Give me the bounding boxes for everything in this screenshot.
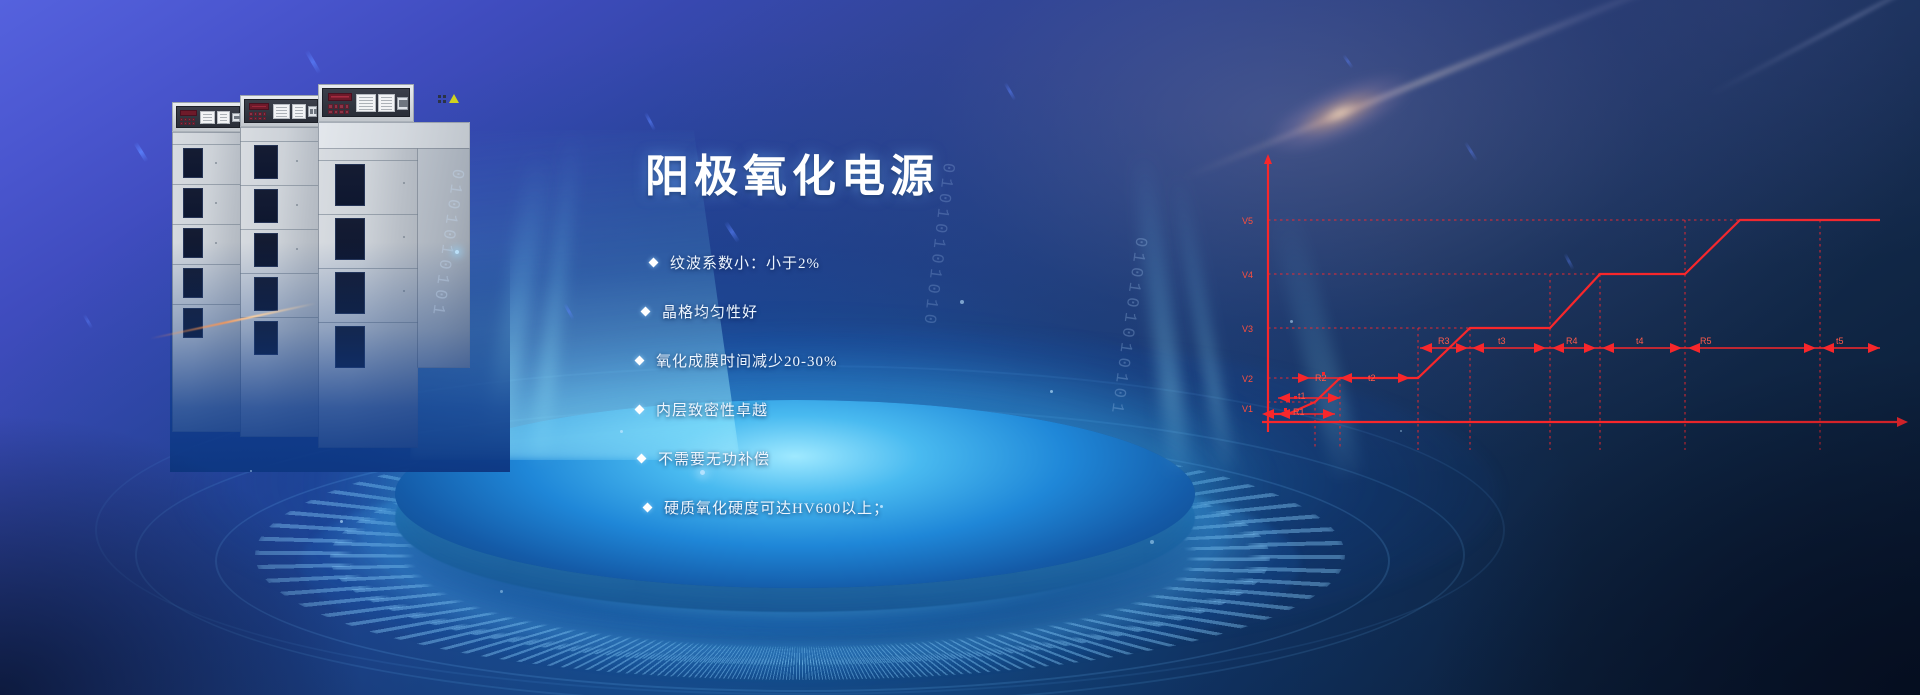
cabinet-left-vent-5 — [183, 308, 203, 338]
chart-tick-v4: V4 — [1242, 270, 1253, 280]
cabinet-left-meter — [232, 113, 240, 122]
warning-label-sticker — [438, 94, 459, 103]
page-title: 阳极氧化电源 — [645, 140, 1185, 204]
cabinet-front-body — [318, 148, 418, 448]
list-item: 晶格均匀性好 — [642, 301, 1185, 322]
list-item: 硬质氧化硬度可达HV600以上； — [644, 497, 1185, 518]
cabinet-front-top-deck — [318, 122, 470, 150]
chart-label-t1: t1 — [1298, 391, 1306, 401]
particle — [620, 430, 623, 433]
list-item-label: 纹波系数小：小于2% — [670, 252, 820, 273]
cabinet-middle-vent-4 — [254, 277, 278, 311]
particle — [1050, 390, 1053, 393]
chart-label-t3: t3 — [1498, 336, 1506, 346]
cabinet-front-keypad[interactable] — [328, 104, 349, 114]
particle — [700, 470, 705, 475]
cabinet-left-vent-4 — [183, 268, 203, 298]
cabinet-front-vent-3 — [335, 272, 365, 314]
anodizing-power-supply-banner: 0101010101 01010101010 010101010101 阳极氧化… — [0, 0, 1920, 695]
diamond-bullet-icon — [649, 258, 659, 268]
particle-streak — [1004, 82, 1017, 101]
cabinet-front-control-panel — [322, 88, 410, 117]
cabinet-middle-vent-3 — [254, 233, 278, 267]
chart-tick-v2: V2 — [1242, 374, 1253, 384]
cabinet-middle-lcd — [249, 103, 269, 110]
particle-streak — [83, 314, 94, 329]
list-item: 不需要无功补偿 — [638, 448, 1185, 469]
chart-label-r1: R1 — [1293, 407, 1305, 417]
particle — [960, 300, 964, 304]
cabinet-left-lcd — [180, 110, 197, 116]
chart-tick-v1: V1 — [1242, 404, 1253, 414]
list-item-label: 内层致密性卓越 — [656, 399, 768, 420]
voltage-step-profile-chart: V5 V4 V3 V2 V1 R1 R2 R3 R4 R5 t1 t2 t3 t… — [1240, 150, 1920, 510]
particle — [1150, 540, 1154, 544]
cabinet-front-label-card-b — [378, 94, 395, 112]
list-item: 内层致密性卓越 — [636, 399, 1185, 420]
diamond-bullet-icon — [635, 405, 645, 415]
banner-text-block: 阳极氧化电源 纹波系数小：小于2% 晶格均匀性好 氧化成膜时间减少20-30% … — [645, 140, 1185, 546]
diamond-bullet-icon — [643, 503, 653, 513]
cabinet-middle-control-panel — [244, 99, 318, 123]
chart-label-t5: t5 — [1836, 336, 1844, 346]
chart-label-r3: R3 — [1438, 336, 1450, 346]
chart-label-t2: t2 — [1368, 373, 1376, 383]
diamond-bullet-icon — [635, 356, 645, 366]
particle — [1290, 320, 1293, 323]
cabinet-middle-keypad[interactable] — [249, 112, 266, 120]
particle-streak — [133, 142, 148, 163]
chart-label-r4: R4 — [1566, 336, 1578, 346]
particle — [1400, 430, 1402, 432]
cabinet-middle-label-card-b — [292, 104, 306, 119]
cabinet-front-lcd — [328, 93, 352, 101]
cabinet-front-vent-4 — [335, 326, 365, 368]
chart-step-curve — [1268, 220, 1880, 414]
particle — [340, 520, 343, 523]
chart-label-t4: t4 — [1636, 336, 1644, 346]
cabinet-left-vent-1 — [183, 148, 203, 178]
cabinet-left-keypad[interactable] — [180, 118, 195, 125]
cabinet-front-vent-2 — [335, 218, 365, 260]
list-item-label: 不需要无功补偿 — [658, 448, 770, 469]
cabinet-middle-body — [240, 127, 322, 437]
diamond-bullet-icon — [637, 454, 647, 464]
cabinet-left-vent-3 — [183, 228, 203, 258]
list-item: 纹波系数小：小于2% — [650, 252, 1185, 273]
cabinet-middle-meter — [308, 106, 317, 117]
chart-y-arrow — [1264, 154, 1272, 164]
list-item: 氧化成膜时间减少20-30% — [636, 350, 1185, 371]
cabinet-left-vent-2 — [183, 188, 203, 218]
feature-list: 纹波系数小：小于2% 晶格均匀性好 氧化成膜时间减少20-30% 内层致密性卓越… — [645, 252, 1185, 518]
cabinet-left-control-panel — [176, 106, 240, 128]
cabinet-middle-vent-5 — [254, 321, 278, 355]
particle-streak — [644, 112, 656, 131]
cabinet-middle-vent-1 — [254, 145, 278, 179]
cabinet-left-label-card-b — [217, 111, 230, 124]
cabinet-front-label-card-a — [356, 94, 376, 112]
particle — [250, 470, 252, 472]
cabinet-front-vent-1 — [335, 164, 365, 206]
list-item-label: 硬质氧化硬度可达HV600以上； — [664, 497, 889, 518]
chart-tick-v5: V5 — [1242, 216, 1253, 226]
list-item-label: 氧化成膜时间减少20-30% — [656, 350, 838, 371]
lens-flare-secondary — [1709, 0, 1920, 96]
particle-streak — [1342, 54, 1354, 69]
chart-label-r5: R5 — [1700, 336, 1712, 346]
particle — [455, 250, 459, 254]
cabinet-middle-label-card-a — [273, 104, 290, 119]
particle — [500, 590, 503, 593]
particle — [880, 505, 883, 508]
chart-tick-v3: V3 — [1242, 324, 1253, 334]
cabinet-middle-vent-2 — [254, 189, 278, 223]
list-item-label: 晶格均匀性好 — [662, 301, 758, 322]
cabinet-left-label-card-a — [200, 111, 215, 124]
cabinet-front-meter — [397, 97, 408, 110]
particle-streak — [305, 50, 321, 75]
chart-x-arrow — [1897, 417, 1908, 427]
diamond-bullet-icon — [641, 307, 651, 317]
